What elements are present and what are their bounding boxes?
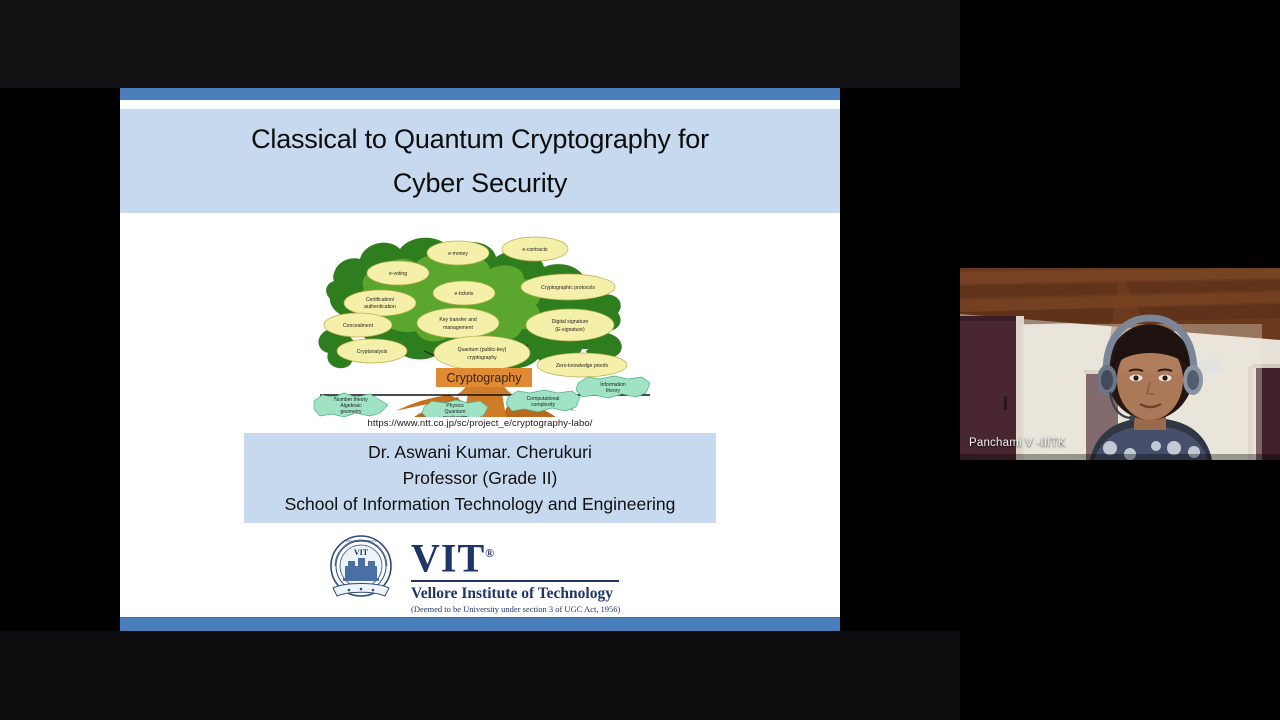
vit-acronym-text: VIT — [411, 535, 485, 580]
leaf-e-tickets: e-tickets — [433, 281, 495, 305]
vit-acronym: VIT® — [411, 534, 495, 577]
leaf-label: authentication — [364, 304, 396, 310]
leaf-digital-signature: Digital signature (E-signature) — [526, 309, 614, 341]
leaf-label: cryptography — [467, 355, 497, 361]
root-label: complexity — [531, 402, 556, 408]
leaf-e-voting: e-voting — [367, 261, 429, 285]
vit-disclaimer: (Deemed to be University under section 3… — [411, 603, 620, 615]
vit-full-name: Vellore Institute of Technology — [411, 585, 620, 603]
stage-band-left — [0, 88, 120, 631]
tree-svg: .lf { fill:#f5f0a9; stroke:#b9ae4e; stro… — [300, 225, 670, 417]
slide-title-line-2: Cyber Security — [393, 161, 567, 205]
stage-band-right — [840, 88, 960, 631]
presenter-designation: Professor (Grade II) — [403, 465, 558, 491]
leaf-quantum-public-key-cryptography: Quantum (public-key) cryptography — [434, 336, 530, 370]
shared-slide[interactable]: Classical to Quantum Cryptography for Cy… — [120, 88, 840, 631]
trunk-label-text: Cryptography — [446, 371, 522, 385]
leaf-label: Zero-knowledge proofs — [556, 363, 609, 369]
presenter-info-box: Dr. Aswani Kumar. Cherukuri Professor (G… — [244, 433, 716, 523]
leaf-e-money: e-money — [427, 241, 489, 265]
root-label: mechanics — [443, 415, 468, 417]
leaf-cryptanalysis: Cryptanalysis — [337, 339, 407, 363]
root-computational-complexity: Computational complexity — [506, 390, 580, 412]
root-number-theory: Number theory Algebraic geometry — [314, 393, 388, 417]
leaf-label: e-voting — [389, 271, 407, 277]
leaf-cryptographic-protocols: Cryptographic protocols — [521, 274, 615, 300]
leaf-label: Concealment — [343, 323, 374, 329]
leaf-certification-authentication: Certification/ authentication — [344, 290, 416, 316]
presenter-school: School of Information Technology and Eng… — [285, 491, 676, 517]
slide-title-line-1: Classical to Quantum Cryptography for — [251, 117, 709, 161]
leaf-e-contracts: e-contracts — [502, 237, 568, 261]
vit-logo: VIT VELLORE INSTITUTE VIT® — [325, 532, 635, 612]
stage-band-top — [0, 0, 960, 88]
leaf-label: e-money — [448, 251, 468, 257]
cryptography-tree-figure: .lf { fill:#f5f0a9; stroke:#b9ae4e; stro… — [300, 225, 670, 417]
participant-video-frame — [960, 268, 1280, 460]
root-information-theory: Information theory — [576, 376, 650, 398]
vit-logo-text: VIT® Vellore Institute of Technology (De… — [411, 532, 620, 615]
slide-title-band: Classical to Quantum Cryptography for Cy… — [120, 109, 840, 213]
leaf-label: Quantum (public-key) — [458, 347, 507, 353]
leaf-key-transfer-and-management: Key transfer and management — [417, 308, 499, 338]
slide-white-gap — [120, 100, 840, 109]
leaf-label: Digital signature — [552, 319, 589, 325]
leaf-label: Cryptographic protocols — [541, 285, 595, 291]
leaf-concealment: Concealment — [324, 313, 392, 337]
figure-source-url: https://www.ntt.co.jp/sc/project_e/crypt… — [120, 418, 840, 429]
leaf-label: management — [443, 325, 473, 331]
registered-mark: ® — [485, 546, 495, 560]
stage-band-bottom — [0, 631, 960, 720]
screen-root: Classical to Quantum Cryptography for Cy… — [0, 0, 1280, 720]
leaf-label: e-contracts — [522, 247, 548, 253]
participant-name-label: Panchami V -IIITK — [969, 437, 1066, 449]
leaf-label: Cryptanalysis — [357, 349, 388, 355]
svg-text:VELLORE INSTITUTE: VELLORE INSTITUTE — [345, 539, 377, 543]
slide-bottom-accent-bar — [120, 617, 840, 631]
root-physics-quantum-mechanics: Physics Quantum mechanics — [422, 400, 488, 417]
seal-center-text: VIT — [354, 548, 369, 557]
presenter-name: Dr. Aswani Kumar. Cherukuri — [368, 439, 592, 465]
root-label: geometry — [340, 409, 362, 415]
leaf-label: (E-signature) — [555, 327, 585, 333]
root-label: theory — [606, 388, 621, 394]
vit-divider-rule — [411, 580, 619, 582]
leaf-label: e-tickets — [455, 291, 474, 297]
leaf-zero-knowledge-proofs: Zero-knowledge proofs — [537, 353, 627, 377]
leaf-label: Certification/ — [366, 297, 395, 303]
trunk-label-cryptography: Cryptography — [436, 368, 532, 387]
participant-video-tile[interactable]: Panchami V -IIITK — [960, 268, 1280, 460]
leaf-label: Key transfer and — [439, 317, 477, 323]
vit-seal-icon: VIT VELLORE INSTITUTE — [325, 532, 397, 604]
